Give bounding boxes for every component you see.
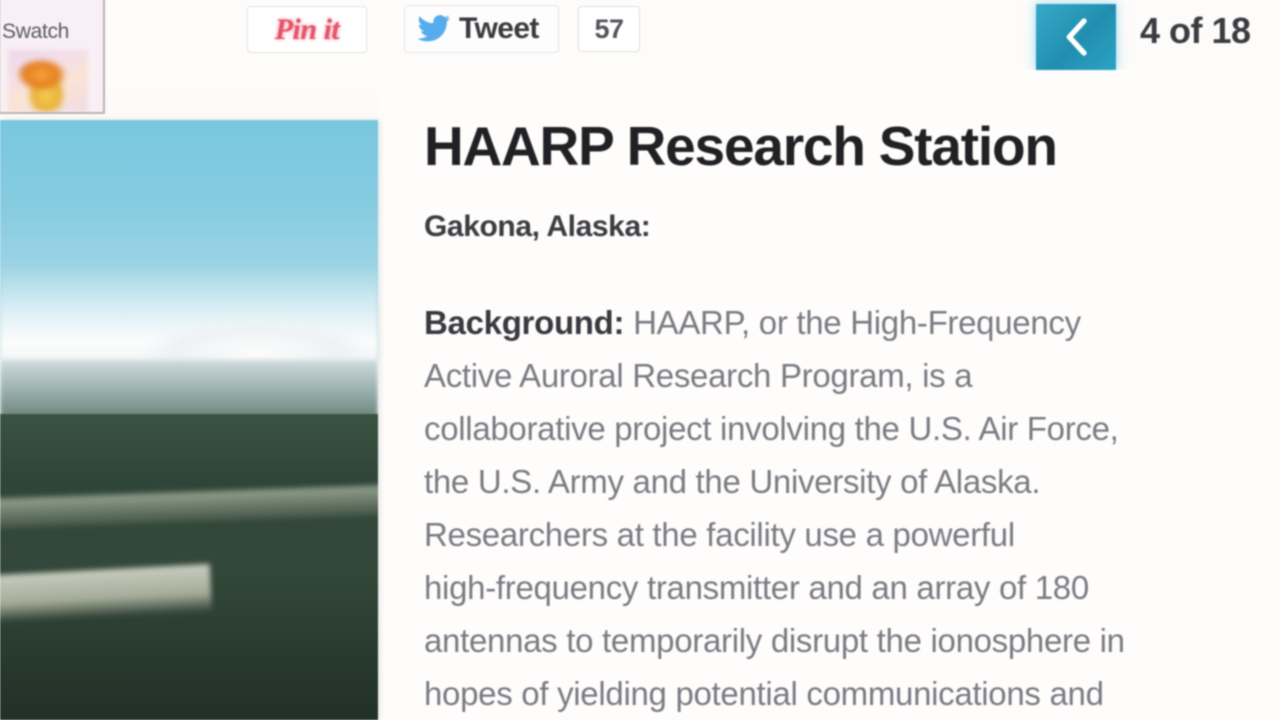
article-body: Background: HAARP, or the High-Frequency…: [424, 296, 1280, 720]
chevron-left-icon: [1059, 17, 1093, 57]
page-title: HAARP Research Station: [424, 118, 1280, 176]
body-line-1: Active Auroral Research Program, is a: [424, 349, 1280, 402]
swatch-thumbnail-box[interactable]: Swatch: [0, 0, 105, 114]
tweet-label: Tweet: [459, 12, 539, 46]
body-line-4: Researchers at the facility use a powerf…: [424, 508, 1280, 561]
body-line-2: collaborative project involving the U.S.…: [424, 402, 1280, 455]
thumbnail-image: [8, 50, 88, 112]
pinterest-icon: Pin it: [275, 13, 340, 47]
body-line-3: the U.S. Army and the University of Alas…: [424, 455, 1280, 508]
tweet-button[interactable]: Tweet: [404, 5, 559, 53]
body-line-0: HAARP, or the High-Frequency: [624, 304, 1081, 341]
twitter-bird-icon: [417, 14, 451, 44]
body-lead-label: Background:: [424, 304, 624, 341]
swatch-label: Swatch: [2, 20, 105, 44]
body-line-7: hopes of yielding potential communicatio…: [424, 667, 1280, 720]
body-line-5: high-frequency transmitter and an array …: [424, 561, 1280, 614]
body-line-6: antennas to temporarily disrupt the iono…: [424, 614, 1280, 667]
slide-position-label: 4 of 18: [1140, 10, 1251, 52]
article-panel: HAARP Research Station Gakona, Alaska: B…: [378, 70, 1280, 720]
photo-vignette: [0, 120, 378, 720]
slide-photo[interactable]: [0, 120, 378, 720]
pin-it-button[interactable]: Pin it: [247, 6, 367, 53]
article-subtitle: Gakona, Alaska:: [424, 210, 1280, 244]
tweet-count-badge[interactable]: 57: [578, 6, 640, 52]
previous-slide-button[interactable]: [1036, 4, 1116, 70]
page-stage: Swatch Pin it Tweet 57 4 of 18 HA: [0, 0, 1280, 720]
